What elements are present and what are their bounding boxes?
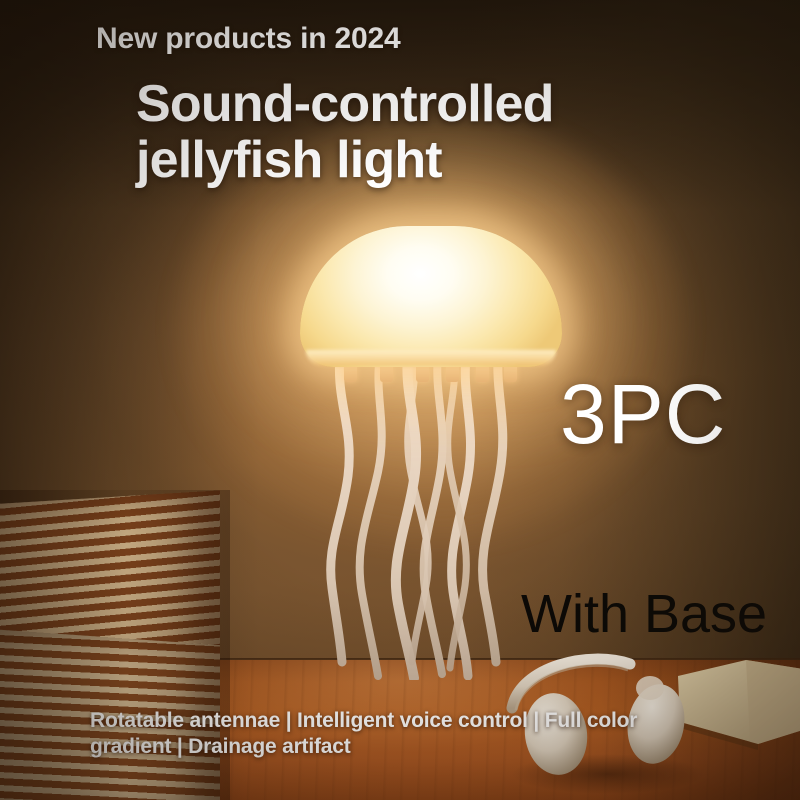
page-title: Sound-controlled jellyfish light: [136, 76, 554, 188]
quantity-badge: 3PC: [560, 372, 726, 456]
lamp-dome-rim: [306, 350, 556, 366]
kicker-text: New products in 2024: [96, 22, 400, 56]
feature-list: Rotatable antennae | Intelligent voice c…: [90, 708, 750, 759]
feature-line-1: Rotatable antennae | Intelligent voice c…: [90, 708, 750, 734]
feature-line-2: gradient | Drainage artifact: [90, 734, 750, 760]
headline-line-1: Sound-controlled: [136, 76, 554, 132]
base-included-badge: With Base: [521, 587, 767, 641]
product-banner-image: New products in 2024 Sound-controlled je…: [0, 0, 800, 800]
headline-line-2: jellyfish light: [136, 132, 554, 188]
